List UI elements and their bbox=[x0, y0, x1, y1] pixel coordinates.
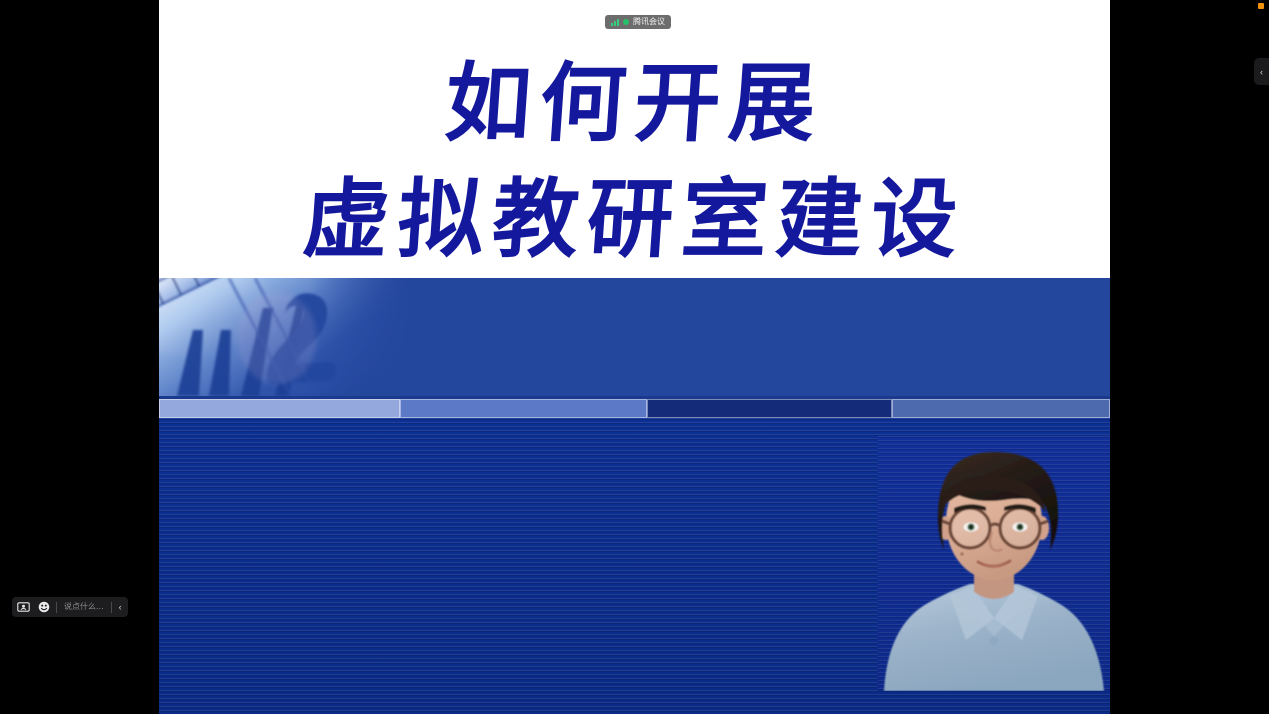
slide-accent-band bbox=[159, 278, 1110, 396]
shared-slide: 如何开展 虚拟教研室建设 bbox=[159, 0, 1110, 714]
chevron-left-icon[interactable]: ‹ bbox=[117, 603, 124, 612]
presenter-video-tile[interactable] bbox=[878, 436, 1110, 691]
toolbar-divider-2 bbox=[111, 602, 112, 613]
clock-face-artwork bbox=[159, 278, 411, 396]
accent-chip-2 bbox=[400, 399, 647, 418]
recording-dot bbox=[1258, 3, 1264, 9]
chat-input[interactable]: 说点什么... bbox=[62, 603, 106, 611]
meeting-screen-share-view: 如何开展 虚拟教研室建设 bbox=[0, 0, 1269, 714]
accent-chip-3 bbox=[647, 399, 892, 418]
slide-title-line-1: 如何开展 bbox=[159, 52, 1110, 156]
meeting-status-badge[interactable]: 腾讯会议 bbox=[605, 15, 671, 29]
signal-bars-icon bbox=[611, 19, 619, 26]
live-status-dot bbox=[623, 19, 629, 25]
slide-title-line-2: 虚拟教研室建设 bbox=[159, 168, 1110, 272]
toolbar-divider bbox=[56, 602, 57, 613]
emoji-icon[interactable] bbox=[36, 600, 51, 615]
slide-title-zone: 如何开展 虚拟教研室建设 bbox=[159, 0, 1110, 278]
chevron-left-icon: ‹ bbox=[1260, 67, 1263, 77]
screen-share-icon[interactable] bbox=[16, 600, 31, 615]
chat-toolbar[interactable]: 说点什么... ‹ bbox=[12, 597, 128, 617]
meeting-app-label: 腾讯会议 bbox=[633, 18, 665, 26]
accent-chip-1 bbox=[159, 399, 400, 418]
accent-chip-4 bbox=[892, 399, 1110, 418]
side-panel-toggle[interactable]: ‹ bbox=[1254, 58, 1269, 85]
